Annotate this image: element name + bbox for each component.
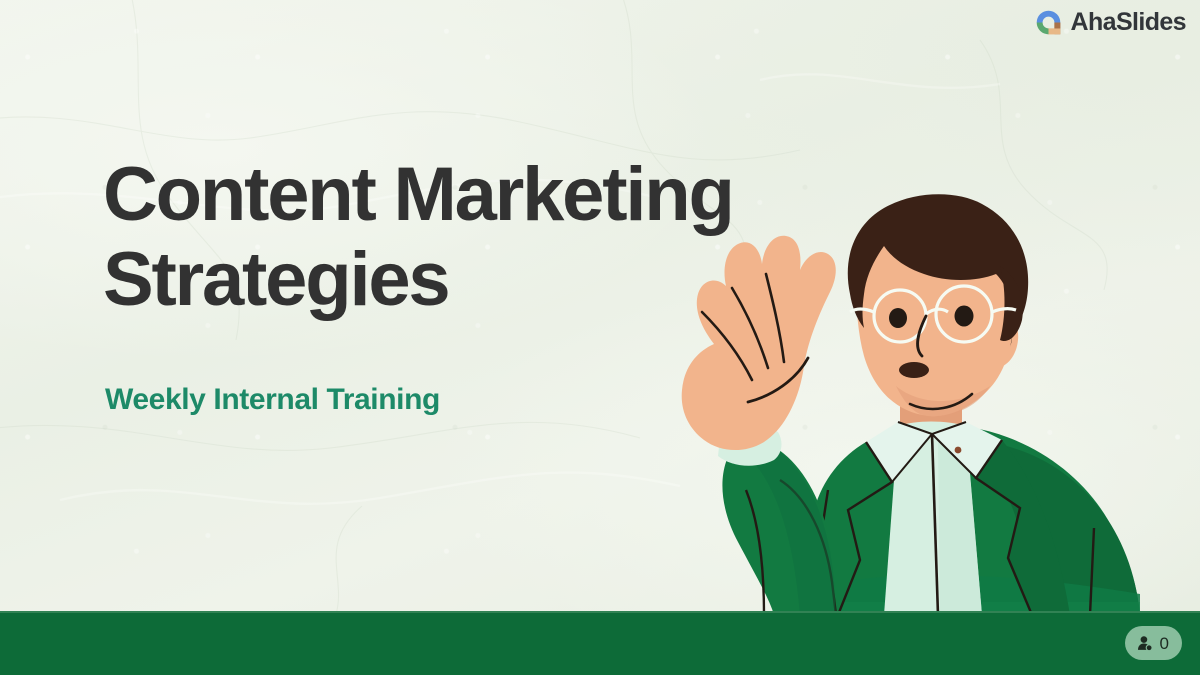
slide-title: Content Marketing Strategies	[103, 152, 973, 322]
footer-top-divider	[0, 611, 1200, 613]
presentation-footer-bar: 0	[0, 611, 1200, 675]
participant-count: 0	[1160, 635, 1169, 652]
ahaslides-logo[interactable]: AhaSlides	[1035, 9, 1186, 36]
ahaslides-wordmark: AhaSlides	[1071, 10, 1186, 35]
person-icon	[1136, 634, 1155, 653]
slide-subtitle: Weekly Internal Training	[105, 383, 440, 417]
participant-count-badge[interactable]: 0	[1125, 626, 1182, 660]
ahaslides-donut-logo-icon	[1035, 9, 1062, 36]
presentation-slide: AhaSlides	[0, 0, 1200, 675]
